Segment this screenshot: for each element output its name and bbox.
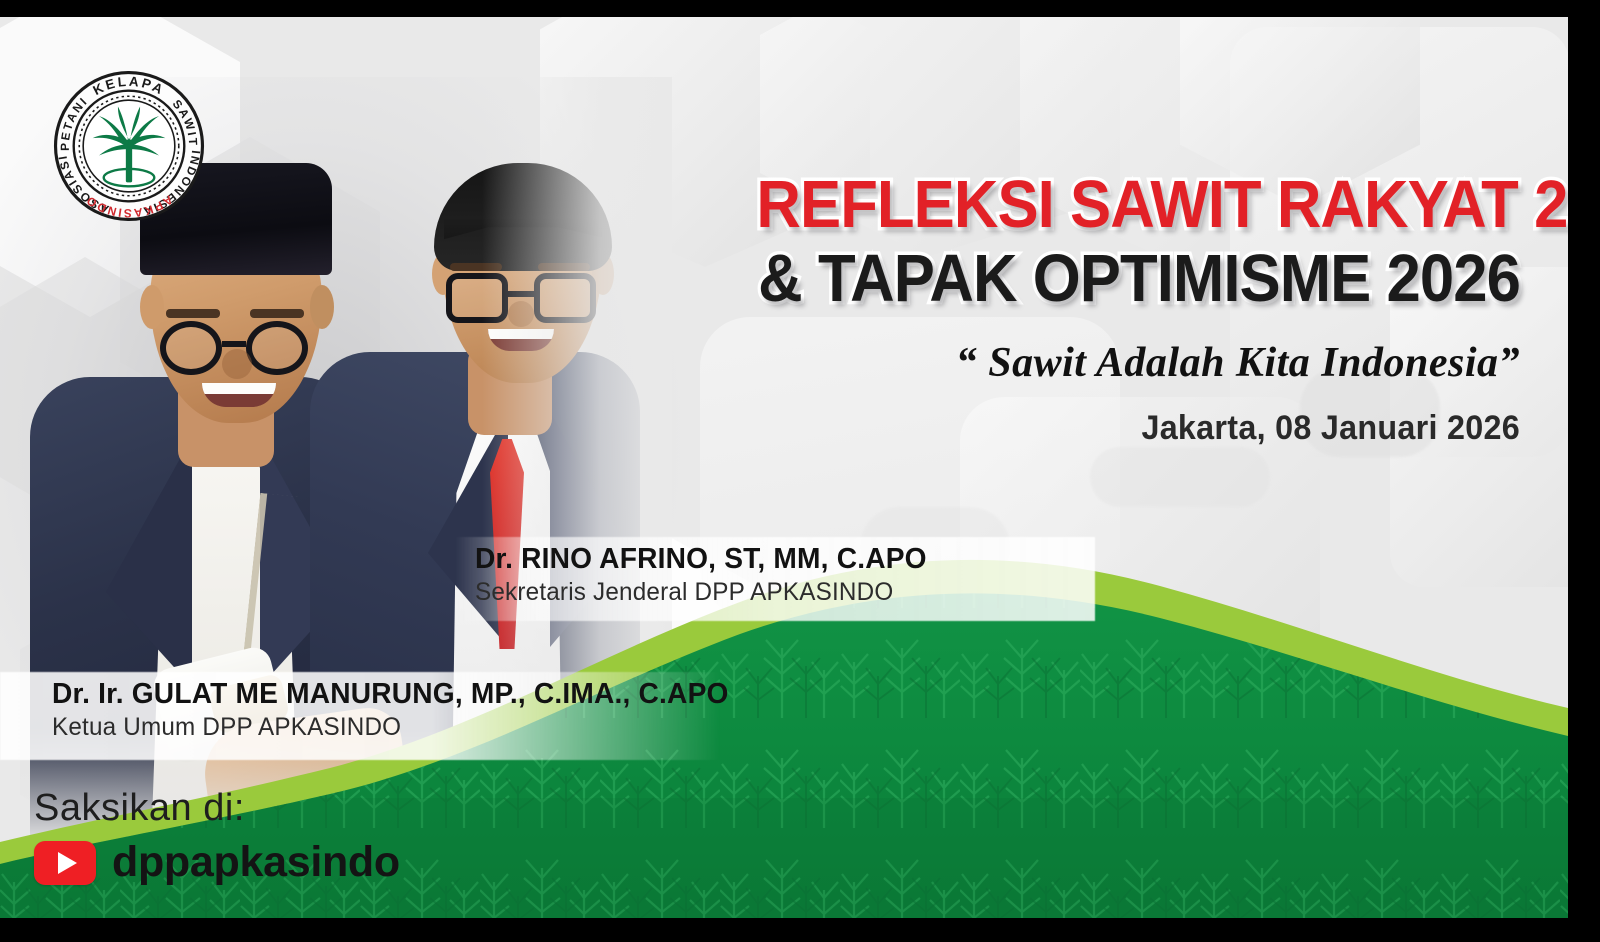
youtube-handle[interactable]: dppapkasindo [112,838,400,887]
poster-frame: KELAPA SAWIT PETANI INDONESIA ASOSIASI [0,0,1600,942]
youtube-icon[interactable] [34,841,96,885]
tagline: “ Sawit Adalah Kita Indonesia” [690,339,1520,387]
title-line-1: REFLEKSI SAWIT RAKYAT 2025 [756,172,1520,238]
letterbox-bottom [0,918,1600,942]
poster-canvas: KELAPA SAWIT PETANI INDONESIA ASOSIASI [0,17,1568,918]
letterbox-top [0,0,1600,17]
speaker-nameplate-rino: Dr. RINO AFRINO, ST, MM, C.APO Sekretari… [455,537,1095,621]
speaker-name: Dr. RINO AFRINO, ST, MM, C.APO [475,543,1076,576]
watch-on-block: Saksikan di: dppapkasindo [34,787,400,887]
letterbox-right [1568,0,1600,942]
speaker-name: Dr. Ir. GULAT ME MANURUNG, MP., C.IMA., … [52,678,700,711]
title-line-2: & TAPAK OPTIMISME 2026 [756,246,1520,312]
speaker-nameplate-gulat: Dr. Ir. GULAT ME MANURUNG, MP., C.IMA., … [0,672,720,760]
apkasindo-logo: KELAPA SAWIT PETANI INDONESIA ASOSIASI [50,67,208,225]
headline-block: REFLEKSI SAWIT RAKYAT 2025 & TAPAK OPTIM… [690,172,1520,448]
event-date: Jakarta, 08 Januari 2026 [732,409,1521,448]
speaker-role: Ketua Umum DPP APKASINDO [52,713,700,742]
watch-label: Saksikan di: [34,787,400,830]
speaker-role: Sekretaris Jenderal DPP APKASINDO [475,578,1076,607]
